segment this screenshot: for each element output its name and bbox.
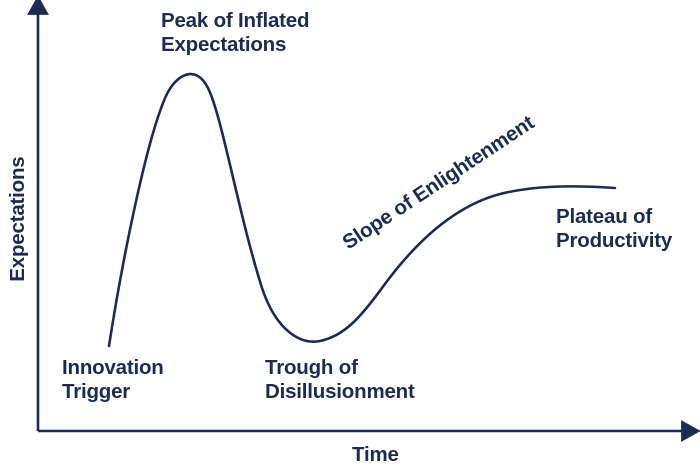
- label-trough-of-disillusionment: Trough of Disillusionment: [265, 356, 415, 404]
- label-innovation-trigger: Innovation Trigger: [62, 356, 164, 404]
- label-peak-of-inflated-expectations: Peak of Inflated Expectations: [161, 9, 309, 57]
- y-axis-label: Expectations: [6, 154, 30, 284]
- label-plateau-of-productivity: Plateau of Productivity: [556, 205, 672, 253]
- x-axis-label: Time: [352, 443, 399, 466]
- hype-cycle-diagram: Peak of Inflated Expectations Innovation…: [0, 0, 700, 466]
- hype-cycle-curve: [109, 74, 615, 346]
